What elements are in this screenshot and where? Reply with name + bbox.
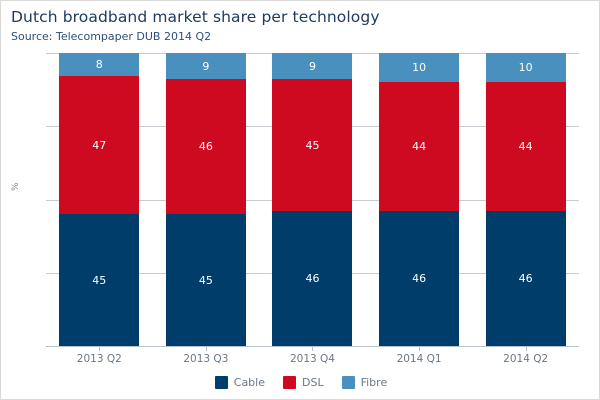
y-axis-title: % [11,182,21,191]
bar-stack[interactable]: 104446 [379,53,459,346]
bar-value-label: 46 [305,272,319,285]
bar-value-label: 45 [199,274,213,287]
bar-segment-fibre[interactable]: 9 [272,53,352,79]
bar-value-label: 44 [519,140,533,153]
chart-legend: CableDSLFibre [1,376,600,389]
bar-value-label: 45 [92,274,106,287]
x-axis-ticks [46,346,579,352]
bar-group: 104446 [366,53,473,346]
chart-container: Dutch broadband market share per technol… [0,0,600,400]
category-label: 2013 Q3 [153,353,260,365]
bar-value-label: 46 [199,140,213,153]
x-axis-tick [366,346,473,352]
bars-layer: 847459464594546104446104446 [46,53,579,346]
bar-segment-fibre[interactable]: 10 [379,53,459,82]
bar-segment-dsl[interactable]: 45 [272,79,352,211]
category-label: 2014 Q2 [472,353,579,365]
legend-swatch-icon [215,376,228,389]
bar-segment-dsl[interactable]: 46 [166,79,246,214]
bar-group: 84745 [46,53,153,346]
bar-segment-cable[interactable]: 46 [486,211,566,346]
bar-group: 94645 [153,53,260,346]
chart-title: Dutch broadband market share per technol… [11,8,380,26]
x-axis-tick [259,346,366,352]
x-axis-tick [153,346,260,352]
legend-swatch-icon [342,376,355,389]
legend-label: Cable [234,376,265,389]
bar-value-label: 47 [92,139,106,152]
bar-value-label: 10 [412,61,426,74]
bar-value-label: 46 [519,272,533,285]
x-axis-tick [472,346,579,352]
bar-segment-fibre[interactable]: 10 [486,53,566,82]
bar-value-label: 44 [412,140,426,153]
bar-stack[interactable]: 94546 [272,53,352,346]
bar-value-label: 46 [412,272,426,285]
bar-segment-dsl[interactable]: 44 [379,82,459,211]
legend-item-dsl[interactable]: DSL [283,376,324,389]
bar-value-label: 10 [519,61,533,74]
legend-label: Fibre [361,376,388,389]
bar-stack[interactable]: 104446 [486,53,566,346]
bar-value-label: 45 [305,139,319,152]
bar-value-label: 9 [309,60,316,73]
legend-item-fibre[interactable]: Fibre [342,376,388,389]
tick-mark [99,346,100,351]
category-label: 2014 Q1 [366,353,473,365]
bar-segment-cable[interactable]: 46 [272,211,352,346]
bar-segment-dsl[interactable]: 47 [59,76,139,214]
tick-mark [312,346,313,351]
tick-mark [206,346,207,351]
bar-segment-dsl[interactable]: 44 [486,82,566,211]
legend-item-cable[interactable]: Cable [215,376,265,389]
bar-group: 104446 [472,53,579,346]
bar-segment-fibre[interactable]: 8 [59,53,139,76]
x-axis-category-labels: 2013 Q22013 Q32013 Q42014 Q12014 Q2 [46,353,579,365]
bar-segment-fibre[interactable]: 9 [166,53,246,79]
category-label: 2013 Q4 [259,353,366,365]
bar-segment-cable[interactable]: 45 [59,214,139,346]
legend-label: DSL [302,376,324,389]
legend-swatch-icon [283,376,296,389]
tick-mark [419,346,420,351]
tick-mark [526,346,527,351]
bar-value-label: 9 [202,60,209,73]
bar-stack[interactable]: 94645 [166,53,246,346]
plot-area: 847459464594546104446104446 [46,53,579,346]
bar-segment-cable[interactable]: 45 [166,214,246,346]
category-label: 2013 Q2 [46,353,153,365]
bar-stack[interactable]: 84745 [59,53,139,346]
bar-group: 94546 [259,53,366,346]
bar-segment-cable[interactable]: 46 [379,211,459,346]
bar-value-label: 8 [96,58,103,71]
x-axis-tick [46,346,153,352]
chart-subtitle: Source: Telecompaper DUB 2014 Q2 [11,30,211,43]
